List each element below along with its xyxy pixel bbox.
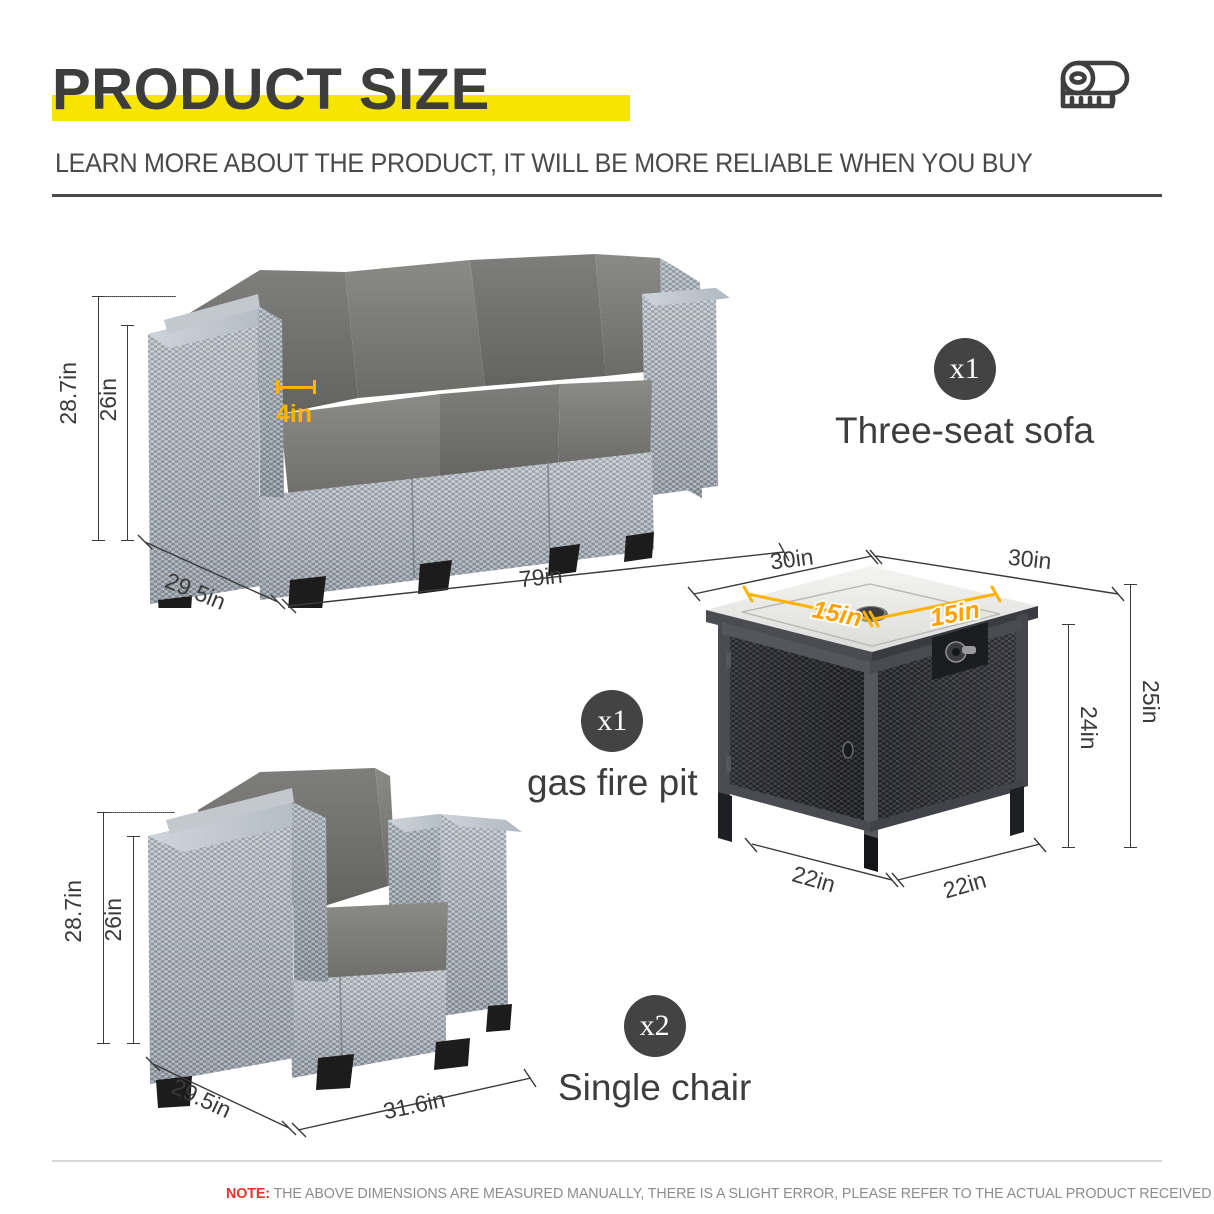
measuring-tape-icon [1052, 58, 1134, 118]
product-size-infographic: PRODUCT SIZE LEARN MORE ABOUT THE PRODUC… [0, 0, 1214, 1214]
sofa-height-tick-top [92, 296, 105, 297]
firepit-body-tick-bottom [1062, 847, 1075, 848]
chair-seatback-tick-top [127, 836, 140, 837]
sofa-armrest-line [276, 386, 316, 389]
firepit-base-dimension-lines [740, 840, 1050, 890]
footer-note: NOTE: THE ABOVE DIMENSIONS ARE MEASURED … [226, 1186, 1212, 1202]
chair-height-leader [103, 812, 175, 813]
sofa-seatback-line [127, 325, 128, 541]
sofa-armrest-tick-left [276, 380, 279, 394]
sofa-width-label: 79in [518, 562, 564, 593]
firepit-top-right-label: 30in [1007, 544, 1053, 575]
firepit-top-left-label: 30in [769, 543, 815, 575]
badge-count-sofa: x1 [934, 338, 996, 400]
badge-group-chair: x2 Single chair [558, 995, 751, 1109]
badge-label-sofa: Three-seat sofa [835, 410, 1094, 452]
badge-label-chair: Single chair [558, 1067, 751, 1109]
badge-label-firepit: gas fire pit [527, 762, 698, 804]
firepit-overall-height-label: 25in [1137, 680, 1164, 723]
page-subtitle: LEARN MORE ABOUT THE PRODUCT, IT WILL BE… [55, 148, 1033, 179]
sofa-armrest-tick-right [313, 380, 316, 394]
chair-height-tick-top [97, 812, 110, 813]
badge-group-firepit: x1 gas fire pit [527, 690, 698, 804]
firepit-body-height-label: 24in [1075, 706, 1102, 749]
firepit-body-tick-top [1062, 624, 1075, 625]
firepit-overall-tick-bottom [1124, 847, 1137, 848]
page-title-block: PRODUCT SIZE [52, 58, 490, 122]
footer-note-keyword: NOTE: [226, 1186, 270, 1202]
page-title: PRODUCT SIZE [52, 58, 490, 122]
sofa-seatback-tick-top [121, 325, 134, 326]
firepit-body-height-line [1068, 624, 1069, 848]
sofa-height-leader [98, 296, 176, 297]
chair-seatback-label: 26in [100, 898, 127, 941]
sofa-height-tick-bottom [92, 540, 105, 541]
sofa-seatback-label: 26in [95, 378, 122, 421]
chair-seatback-line [133, 836, 134, 1044]
badge-count-chair: x2 [624, 995, 686, 1057]
header-divider [52, 194, 1162, 197]
firepit-overall-tick-top [1124, 584, 1137, 585]
footer-note-text: THE ABOVE DIMENSIONS ARE MEASURED MANUAL… [270, 1186, 1212, 1202]
firepit-overall-height-line [1130, 584, 1131, 848]
badge-group-sofa: x1 Three-seat sofa [835, 338, 1094, 452]
chair-height-label: 28.7in [60, 880, 87, 943]
sofa-height-label: 28.7in [55, 362, 82, 425]
badge-count-firepit: x1 [581, 690, 643, 752]
footer-divider [52, 1160, 1162, 1162]
chair-height-tick-bottom [97, 1043, 110, 1044]
sofa-armrest-label: 4in [276, 400, 312, 429]
